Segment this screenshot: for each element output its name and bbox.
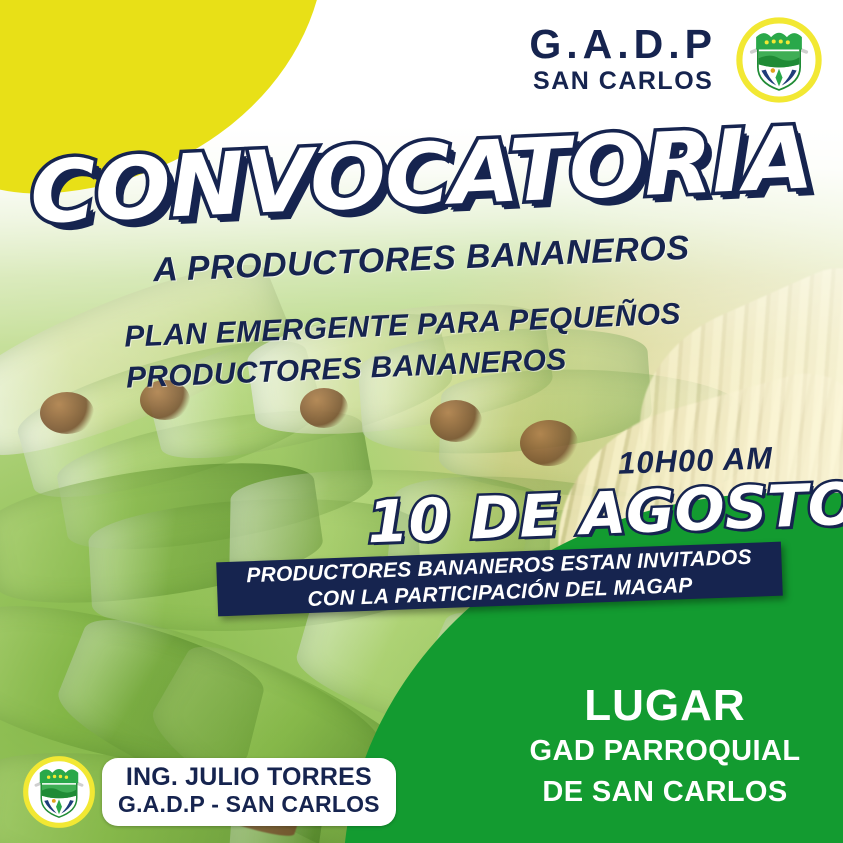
poster-header: G.A.D.P SAN CARLOS: [529, 16, 823, 104]
header-org-text: G.A.D.P SAN CARLOS: [529, 24, 717, 96]
subtitle-wrap: A PRODUCTORES BANANEROS: [0, 240, 843, 279]
signatory-org: G.A.D.P - SAN CARLOS: [118, 791, 380, 818]
venue-block: LUGAR GAD PARROQUIAL DE SAN CARLOS: [515, 681, 815, 813]
signature-block: ING. JULIO TORRES G.A.D.P - SAN CARLOS: [22, 755, 396, 829]
coat-of-arms-icon-small: [22, 755, 96, 829]
signature-plate: ING. JULIO TORRES G.A.D.P - SAN CARLOS: [102, 758, 396, 825]
signatory-name: ING. JULIO TORRES: [118, 763, 380, 791]
coat-of-arms-icon: [735, 16, 823, 104]
org-abbrev: G.A.D.P: [529, 24, 717, 65]
venue-line-2: DE SAN CARLOS: [515, 772, 815, 813]
page-title: CONVOCATORIA: [29, 115, 815, 238]
org-place: SAN CARLOS: [529, 67, 717, 96]
poster-canvas: G.A.D.P SAN CARLOS: [0, 0, 843, 843]
main-title-wrap: CONVOCATORIA: [0, 133, 843, 221]
venue-line-1: GAD PARROQUIAL: [515, 731, 815, 772]
venue-label: LUGAR: [515, 681, 815, 730]
